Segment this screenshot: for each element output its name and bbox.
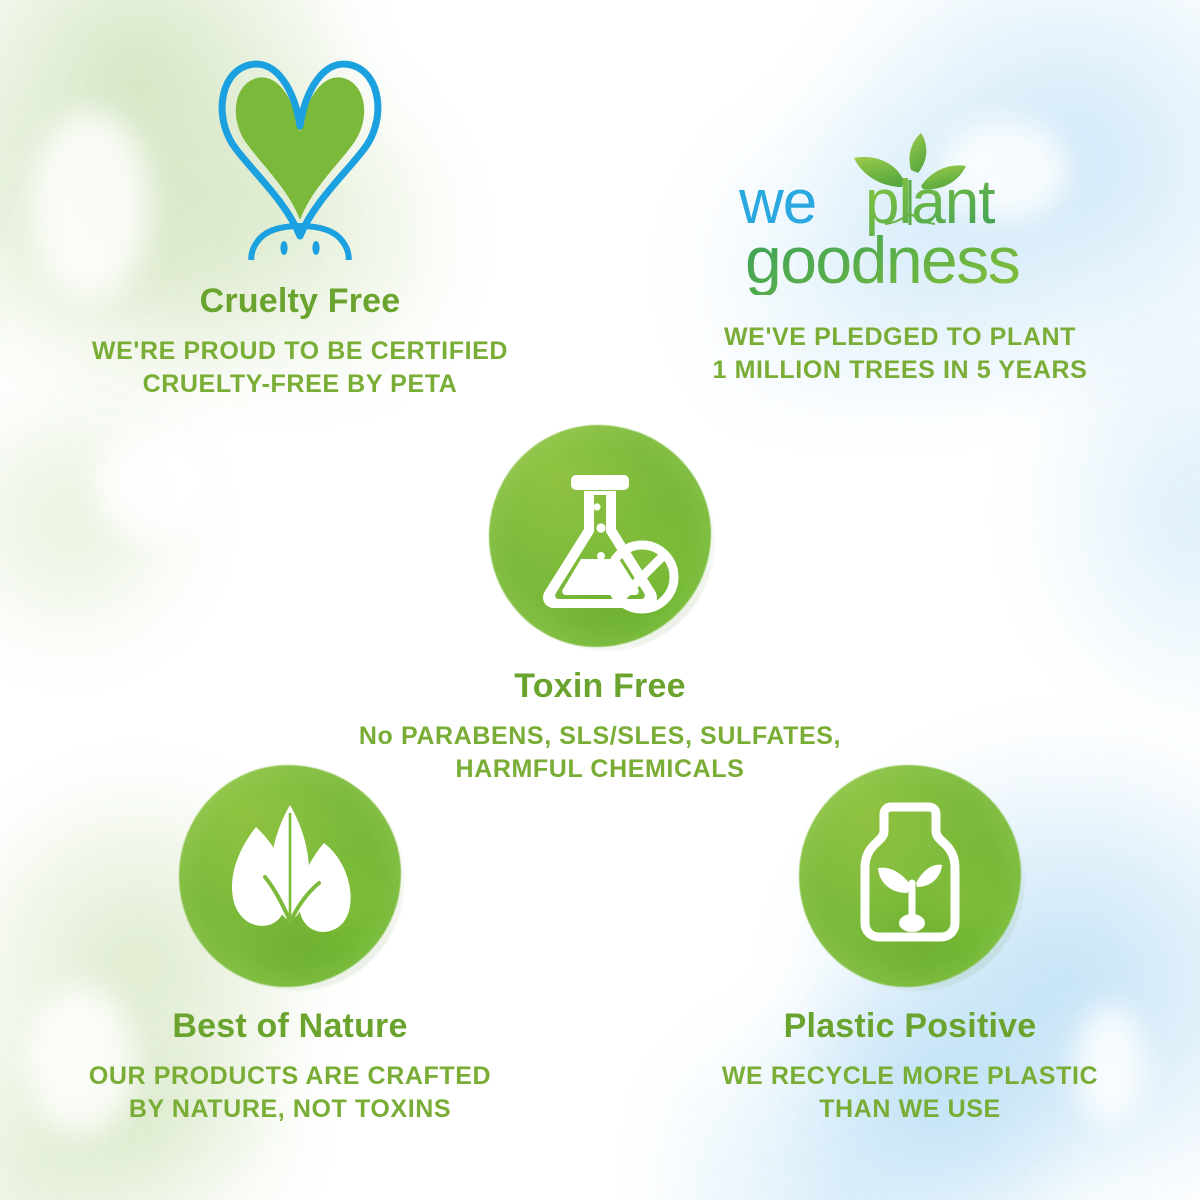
badge-title: Cruelty Free — [40, 282, 560, 321]
flask-no-entry-icon — [489, 425, 711, 647]
white-speck — [95, 430, 215, 540]
toxin-free-medallion — [489, 425, 711, 647]
badge-description: OUR PRODUCTS ARE CRAFTED BY NATURE, NOT … — [30, 1060, 550, 1126]
badge-we-plant-goodness: we plant goodness WE'VE PLEDGED TO PLANT… — [640, 125, 1160, 387]
badge-title: Plastic Positive — [660, 1007, 1160, 1046]
desc-line: WE RECYCLE MORE PLASTIC — [722, 1062, 1098, 1090]
desc-line: 1 MILLION TREES IN 5 YEARS — [713, 356, 1088, 384]
desc-line: CRUELTY-FREE BY PETA — [143, 370, 458, 398]
desc-line: WE'RE PROUD TO BE CERTIFIED — [92, 337, 508, 365]
desc-line: No PARABENS, SLS/SLES, SULFATES, — [359, 722, 841, 750]
desc-line: THAN WE USE — [819, 1095, 1001, 1123]
green-heart-shape — [236, 77, 364, 220]
infographic-page: Cruelty Free WE'RE PROUD TO BE CERTIFIED… — [0, 0, 1200, 1200]
three-leaves-icon — [179, 765, 401, 987]
plastic-positive-medallion — [799, 765, 1021, 987]
bottle-sprout-icon — [799, 765, 1021, 987]
bunny-left-eye — [280, 241, 287, 255]
badge-title: Best of Nature — [30, 1007, 550, 1046]
bunny-right-eye — [312, 241, 319, 255]
badge-description: WE RECYCLE MORE PLASTIC THAN WE USE — [660, 1060, 1160, 1126]
badge-description: WE'VE PLEDGED TO PLANT 1 MILLION TREES I… — [640, 321, 1160, 387]
badge-description: WE'RE PROUD TO BE CERTIFIED CRUELTY-FREE… — [40, 335, 560, 401]
badge-plastic-positive: Plastic Positive WE RECYCLE MORE PLASTIC… — [660, 765, 1160, 1126]
badge-title: Toxin Free — [340, 667, 860, 706]
sprout-icon — [878, 865, 942, 932]
desc-line: OUR PRODUCTS ARE CRAFTED — [89, 1062, 491, 1090]
badge-toxin-free: Toxin Free No PARABENS, SLS/SLES, SULFAT… — [340, 425, 860, 786]
peta-bunny-heart-logo — [185, 40, 415, 260]
badge-cruelty-free: Cruelty Free WE'RE PROUD TO BE CERTIFIED… — [40, 40, 560, 401]
badge-best-of-nature: Best of Nature OUR PRODUCTS ARE CRAFTED … — [30, 765, 550, 1126]
logo-word-goodness: goodness — [745, 223, 1019, 295]
desc-line: WE'VE PLEDGED TO PLANT — [724, 323, 1076, 351]
best-of-nature-medallion — [179, 765, 401, 987]
desc-line: BY NATURE, NOT TOXINS — [129, 1095, 451, 1123]
we-plant-goodness-logo: we plant goodness — [735, 125, 1065, 295]
